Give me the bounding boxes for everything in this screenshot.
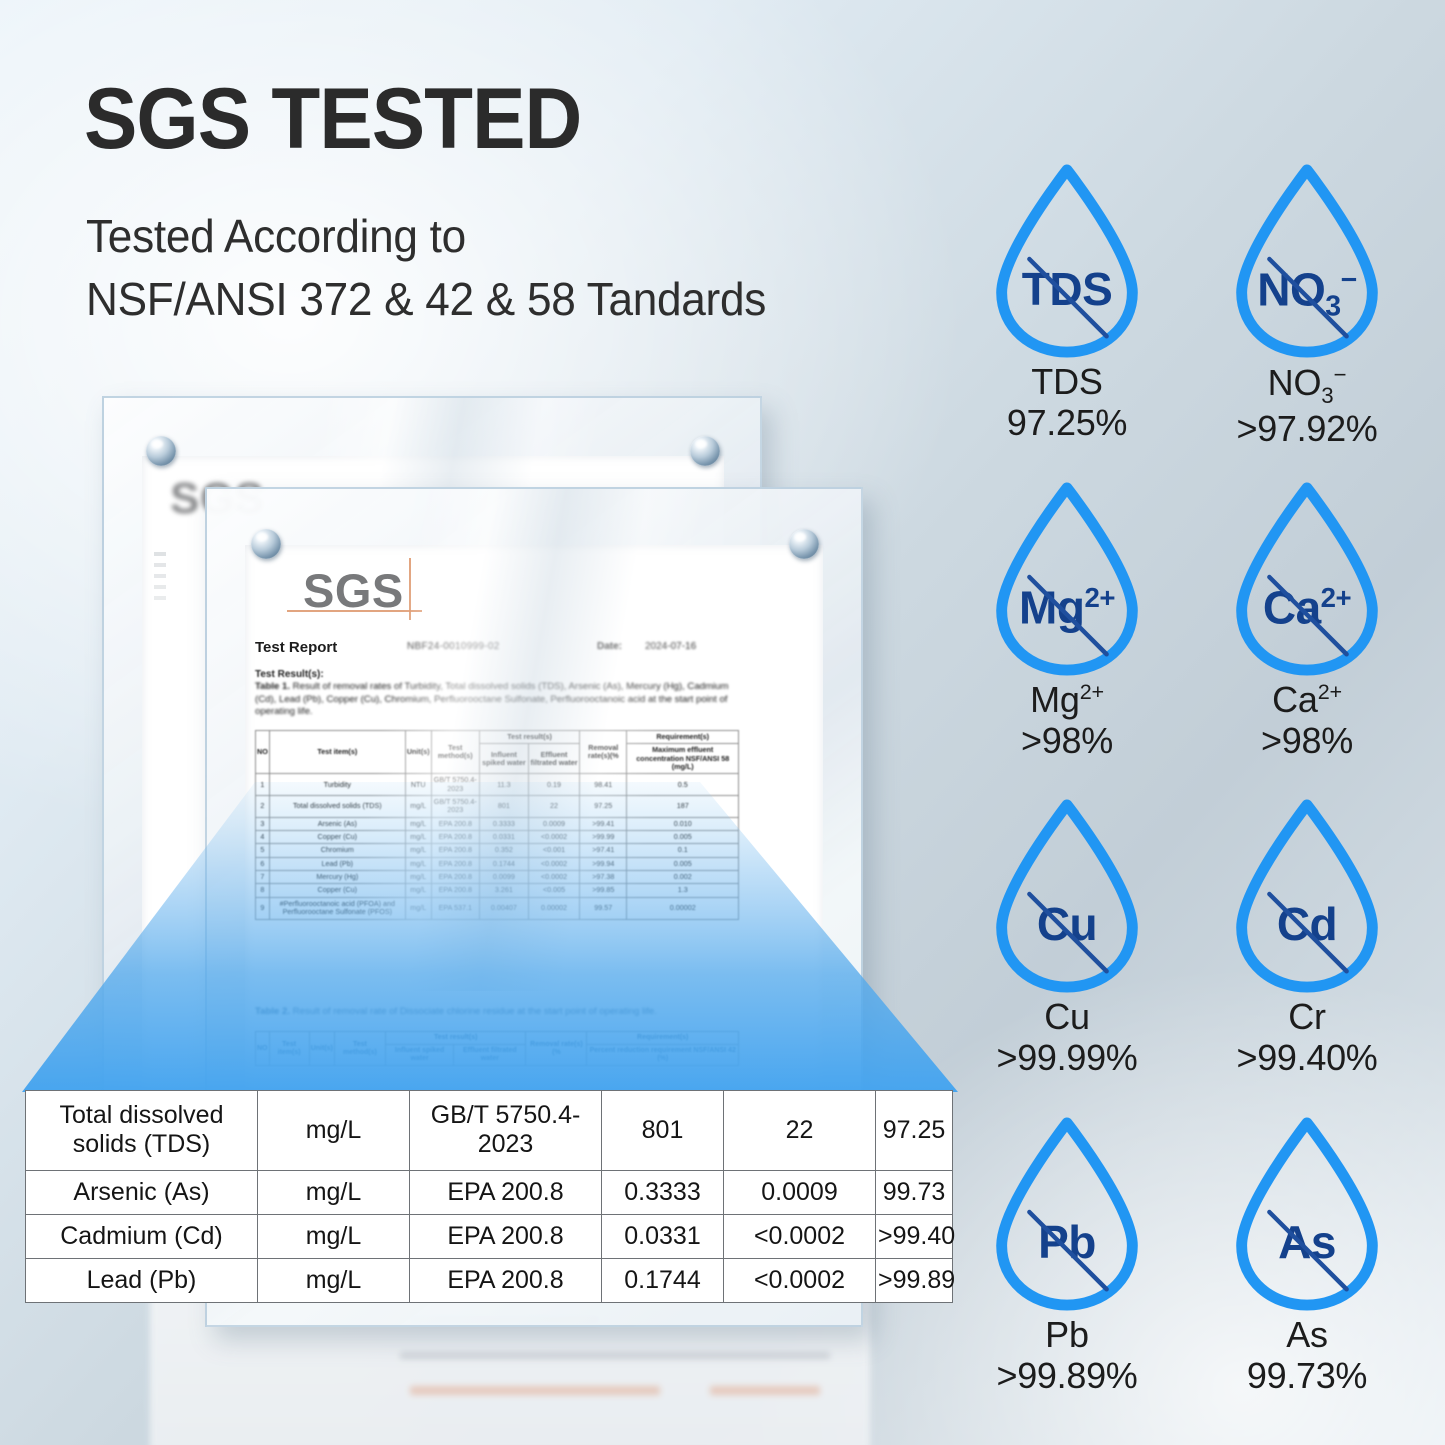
contaminant-name: Ca2+ xyxy=(1272,680,1342,720)
strikethrough-icon xyxy=(991,162,1143,360)
cell-method: EPA 200.8 xyxy=(410,1214,602,1258)
contaminant-name: Cu xyxy=(1044,997,1090,1037)
cell-item: Lead (Pb) xyxy=(26,1258,258,1302)
th-method: Test method(s) xyxy=(431,731,479,774)
strikethrough-icon xyxy=(1231,480,1383,678)
strikethrough-icon xyxy=(991,797,1143,995)
standoff-screw-icon xyxy=(690,436,720,466)
report-table-cell: 11.3 xyxy=(479,774,528,796)
report-table-cell: Copper (Cu) xyxy=(269,884,405,897)
table2-caption: Table 2. Result of removal rate of Disso… xyxy=(255,1006,735,1018)
report-title: Test Report xyxy=(255,639,337,656)
contaminant-droplet-grid: TDSTDS97.25%NO3−NO3−>97.92%Mg2+Mg2+>98%C… xyxy=(952,162,1422,1432)
report-table-cell: 0.010 xyxy=(627,817,739,830)
report-table-cell: EPA 200.8 xyxy=(431,817,479,830)
report-table2-cell: Effluent filtrated water xyxy=(454,1045,526,1066)
standoff-screw-icon xyxy=(251,529,281,559)
cell-item: Total dissolved solids (TDS) xyxy=(26,1091,258,1171)
report-table-row: 6Lead (Pb)mg/LEPA 200.80.1744<0.0002>99.… xyxy=(256,857,739,870)
cell-method: GB/T 5750.4-2023 xyxy=(410,1091,602,1171)
cell-effluent: <0.0002 xyxy=(724,1258,876,1302)
magnified-data-table: Total dissolved solids (TDS)mg/LGB/T 575… xyxy=(25,1090,953,1303)
removal-percent: 99.73% xyxy=(1247,1355,1367,1396)
th-effluent: Effluent filtrated water xyxy=(528,744,579,774)
subtitle-line-2: NSF/ANSI 372 & 42 & 58 Tandards xyxy=(86,268,766,331)
removal-percent: >98% xyxy=(1261,720,1353,761)
report-table-cell: mg/L xyxy=(405,871,431,884)
water-droplet-icon: As xyxy=(1231,1115,1383,1313)
report-table-cell: 1.3 xyxy=(627,884,739,897)
th-group-results: Test result(s) xyxy=(479,731,579,744)
report-table-cell: 4 xyxy=(256,831,270,844)
report-table2-cell: Removal rate(s)(% xyxy=(526,1032,587,1066)
report-table-cell: 0.0331 xyxy=(479,831,528,844)
page-subtitle: Tested According to NSF/ANSI 372 & 42 & … xyxy=(86,205,766,331)
report-table-cell: 97.25 xyxy=(580,796,627,818)
droplet-card-no: NO3−NO3−>97.92% xyxy=(1192,162,1422,480)
th-removal: Removal rate(s)(% xyxy=(580,731,627,774)
droplet-card-as: AsAs99.73% xyxy=(1192,1115,1422,1433)
table-row: Arsenic (As)mg/LEPA 200.80.33330.000999.… xyxy=(26,1170,953,1214)
report-table-cell: <0.001 xyxy=(528,844,579,857)
cell-influent: 801 xyxy=(602,1091,724,1171)
droplet-card-cu: CuCu>99.99% xyxy=(952,797,1182,1115)
report-table-row: 1TurbidityNTUGB/T 5750.4-202311.30.1998.… xyxy=(256,774,739,796)
report-table-cell: >99.41 xyxy=(580,817,627,830)
report-table-cell: EPA 200.8 xyxy=(431,831,479,844)
report-table-cell: 0.5 xyxy=(627,774,739,796)
water-droplet-icon: NO3− xyxy=(1231,162,1383,360)
report-table-cell: 0.1 xyxy=(627,844,739,857)
removal-percent: >97.92% xyxy=(1236,408,1377,449)
report-table-cell: 22 xyxy=(528,796,579,818)
standoff-screw-icon xyxy=(146,436,176,466)
strikethrough-icon xyxy=(991,1115,1143,1313)
report-table-cell: 98.41 xyxy=(580,774,627,796)
report-table2-cell: Influent spiked water xyxy=(385,1045,453,1066)
subtitle-line-1: Tested According to xyxy=(86,205,766,268)
table-row: Cadmium (Cd)mg/LEPA 200.80.0331<0.0002>9… xyxy=(26,1214,953,1258)
cell-influent: 0.3333 xyxy=(602,1170,724,1214)
report-table-cell: <0.0002 xyxy=(528,871,579,884)
report-table-cell: >97.41 xyxy=(580,844,627,857)
report-table-cell: #Perfluorooctanoic acid (PFOA) and Perfl… xyxy=(269,897,405,919)
report-table-cell: 801 xyxy=(479,796,528,818)
report-number: NBF24-0010999-02 xyxy=(407,641,500,652)
report-table-cell: 5 xyxy=(256,844,270,857)
infographic-canvas: SGS TESTED Tested According to NSF/ANSI … xyxy=(0,0,1445,1445)
report-table-row: 7Mercury (Hg)mg/LEPA 200.80.0099<0.0002>… xyxy=(256,871,739,884)
report-table-cell: 0.3333 xyxy=(479,817,528,830)
table-row: Total dissolved solids (TDS)mg/LGB/T 575… xyxy=(26,1091,953,1171)
report-table-cell: <0.0002 xyxy=(528,831,579,844)
cell-influent: 0.0331 xyxy=(602,1214,724,1258)
contaminant-name: Pb xyxy=(1045,1315,1089,1355)
cell-item: Arsenic (As) xyxy=(26,1170,258,1214)
report-table-row: 8Copper (Cu)mg/LEPA 200.83.261<0.005>99.… xyxy=(256,884,739,897)
report-table-cell: 0.005 xyxy=(627,831,739,844)
removal-percent: >99.40% xyxy=(1236,1037,1377,1078)
droplet-card-pb: PbPb>99.89% xyxy=(952,1115,1182,1433)
contaminant-name: Mg2+ xyxy=(1030,680,1104,720)
report-table-cell: mg/L xyxy=(405,857,431,870)
cell-method: EPA 200.8 xyxy=(410,1258,602,1302)
report-table-cell: 0.0099 xyxy=(479,871,528,884)
report-table2-cell: Test item(s) xyxy=(269,1032,309,1066)
report-table-cell: 99.57 xyxy=(580,897,627,919)
cell-effluent: 22 xyxy=(724,1091,876,1171)
contaminant-name: TDS xyxy=(1031,362,1102,402)
cell-removal: >99.89 xyxy=(876,1258,953,1302)
removal-percent: 97.25% xyxy=(1007,402,1127,443)
cell-item: Cadmium (Cd) xyxy=(26,1214,258,1258)
droplet-card-tds: TDSTDS97.25% xyxy=(952,162,1182,480)
report-table-row: 3Arsenic (As)mg/LEPA 200.80.33330.0009>9… xyxy=(256,817,739,830)
contaminant-name: As xyxy=(1286,1315,1328,1355)
report-table-cell: EPA 200.8 xyxy=(431,844,479,857)
removal-percent: >98% xyxy=(1021,720,1113,761)
report-table-cell: <0.005 xyxy=(528,884,579,897)
report-table-cell: GB/T 5750.4-2023 xyxy=(431,796,479,818)
cell-method: EPA 200.8 xyxy=(410,1170,602,1214)
cell-unit: mg/L xyxy=(258,1091,410,1171)
report-date-label: Date: xyxy=(597,641,622,652)
th-item: Test item(s) xyxy=(269,731,405,774)
water-droplet-icon: Ca2+ xyxy=(1231,480,1383,678)
report-table-row: 5Chromiummg/LEPA 200.80.352<0.001>97.410… xyxy=(256,844,739,857)
report-table-row: 9#Perfluorooctanoic acid (PFOA) and Perf… xyxy=(256,897,739,919)
report-table-cell: NTU xyxy=(405,774,431,796)
water-droplet-icon: TDS xyxy=(991,162,1143,360)
report-table-cell: EPA 537.1 xyxy=(431,897,479,919)
magnified-table-container: Total dissolved solids (TDS)mg/LGB/T 575… xyxy=(15,1086,958,1308)
report-table-cell: 9 xyxy=(256,897,270,919)
cell-effluent: <0.0002 xyxy=(724,1214,876,1258)
contaminant-name: NO3− xyxy=(1268,362,1347,408)
report-table-cell: 3 xyxy=(256,817,270,830)
report-table-cell: EPA 200.8 xyxy=(431,884,479,897)
report-table-cell: 0.00002 xyxy=(528,897,579,919)
removal-percent: >99.89% xyxy=(996,1355,1137,1396)
report-table-cell: 3.261 xyxy=(479,884,528,897)
report-table-cell: Mercury (Hg) xyxy=(269,871,405,884)
report-table-cell: 0.00002 xyxy=(627,897,739,919)
contaminant-name: Cr xyxy=(1288,997,1326,1037)
cell-influent: 0.1744 xyxy=(602,1258,724,1302)
report-table-cell: mg/L xyxy=(405,831,431,844)
water-droplet-icon: Cu xyxy=(991,797,1143,995)
cell-removal: >99.40 xyxy=(876,1214,953,1258)
report-table-cell: >99.85 xyxy=(580,884,627,897)
table-row: Lead (Pb)mg/LEPA 200.80.1744<0.0002>99.8… xyxy=(26,1258,953,1302)
report-table-cell: Copper (Cu) xyxy=(269,831,405,844)
report-table2-cell: Test method(s) xyxy=(334,1032,385,1066)
standoff-screw-icon xyxy=(789,529,819,559)
report-table-cell: 7 xyxy=(256,871,270,884)
report-table-cell: 0.19 xyxy=(528,774,579,796)
report-table-cell: EPA 200.8 xyxy=(431,871,479,884)
report-table-cell: 0.002 xyxy=(627,871,739,884)
report-table-row: 2Total dissolved solids (TDS)mg/LGB/T 57… xyxy=(256,796,739,818)
strikethrough-icon xyxy=(1231,162,1383,360)
report-table-cell: >99.99 xyxy=(580,831,627,844)
th-max-conc: Maximum effluent concentration NSF/ANSI … xyxy=(627,744,739,774)
report-table-row: 4Copper (Cu)mg/LEPA 200.80.0331<0.0002>9… xyxy=(256,831,739,844)
report-table-cell: mg/L xyxy=(405,884,431,897)
report-table-cell: <0.0002 xyxy=(528,857,579,870)
report-table-cell: GB/T 5750.4-2023 xyxy=(431,774,479,796)
report-table-cell: mg/L xyxy=(405,844,431,857)
report-table-cell: Turbidity xyxy=(269,774,405,796)
cell-unit: mg/L xyxy=(258,1170,410,1214)
report-table-cell: Total dissolved solids (TDS) xyxy=(269,796,405,818)
report-table2-cell: Requirement(s) xyxy=(587,1032,739,1045)
strikethrough-icon xyxy=(1231,1115,1383,1313)
report-table-cell: mg/L xyxy=(405,817,431,830)
report-table2-cell: NO xyxy=(256,1032,270,1066)
droplet-card-cr: CdCr>99.40% xyxy=(1192,797,1422,1115)
report-table-cell: Lead (Pb) xyxy=(269,857,405,870)
water-droplet-icon: Mg2+ xyxy=(991,480,1143,678)
removal-percent: >99.99% xyxy=(996,1037,1137,1078)
droplet-card-ca: Ca2+Ca2+>98% xyxy=(1192,480,1422,798)
page-title: SGS TESTED xyxy=(84,76,581,162)
report-table-cell: EPA 200.8 xyxy=(431,857,479,870)
report-table-cell: >99.94 xyxy=(580,857,627,870)
report-table2-cell: Test result(s) xyxy=(385,1032,525,1045)
report-table-cell: Chromium xyxy=(269,844,405,857)
water-droplet-icon: Pb xyxy=(991,1115,1143,1313)
report-table-cell: 0.352 xyxy=(479,844,528,857)
th-group-requirement: Requirement(s) xyxy=(627,731,739,744)
report-table-cell: mg/L xyxy=(405,897,431,919)
sgs-logo: SGS xyxy=(303,567,404,614)
water-droplet-icon: Cd xyxy=(1231,797,1383,995)
report-table-cell: 0.1744 xyxy=(479,857,528,870)
report-table-cell: 2 xyxy=(256,796,270,818)
report-table-cell: 0.0009 xyxy=(528,817,579,830)
report-table-cell: mg/L xyxy=(405,796,431,818)
report-table-cell: 187 xyxy=(627,796,739,818)
report-table-cell: 6 xyxy=(256,857,270,870)
report-date-value: 2024-07-16 xyxy=(645,641,696,652)
strikethrough-icon xyxy=(1231,797,1383,995)
strikethrough-icon xyxy=(991,480,1143,678)
report-table2-cell: Percent reduction requirement NSF/ANSI 4… xyxy=(587,1045,739,1066)
cell-unit: mg/L xyxy=(258,1258,410,1302)
report-table-cell: >97.38 xyxy=(580,871,627,884)
cell-effluent: 0.0009 xyxy=(724,1170,876,1214)
th-no: NO xyxy=(256,731,270,774)
report-table-cell: 8 xyxy=(256,884,270,897)
report-table-cell: 1 xyxy=(256,774,270,796)
table1-caption: Table 1. Result of removal rates of Turb… xyxy=(255,681,735,719)
report-table-cell: Arsenic (As) xyxy=(269,817,405,830)
cell-unit: mg/L xyxy=(258,1214,410,1258)
test-results-label: Test Result(s): xyxy=(255,669,324,680)
report-table2-cell: Unit(s) xyxy=(309,1032,334,1066)
cell-removal: 97.25 xyxy=(876,1091,953,1171)
report-table-1: NOTest item(s)Unit(s)Test method(s)Test … xyxy=(255,730,739,920)
droplet-card-mg: Mg2+Mg2+>98% xyxy=(952,480,1182,798)
report-table-cell: 0.005 xyxy=(627,857,739,870)
report-table-2: NOTest item(s)Unit(s)Test method(s)Test … xyxy=(255,1031,739,1066)
report-table-cell: 0.00407 xyxy=(479,897,528,919)
cell-removal: 99.73 xyxy=(876,1170,953,1214)
th-influent: Influent spiked water xyxy=(479,744,528,774)
th-unit: Unit(s) xyxy=(405,731,431,774)
